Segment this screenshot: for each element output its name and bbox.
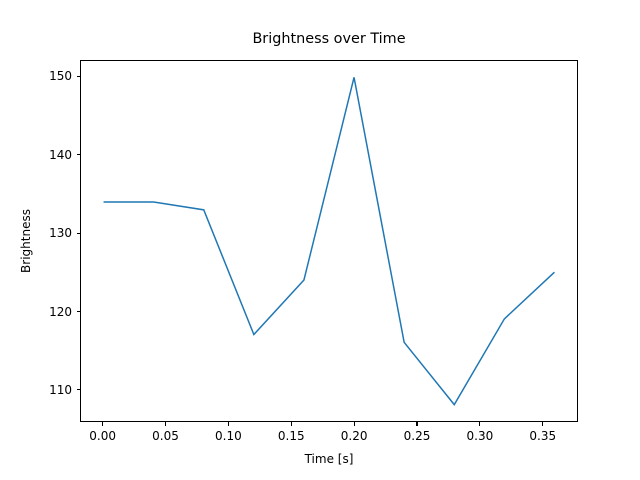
y-tick-label: 110 <box>0 383 72 397</box>
y-tick-label: 140 <box>0 148 72 162</box>
x-tick-label: 0.05 <box>152 429 179 443</box>
x-tick-label: 0.00 <box>89 429 116 443</box>
line-chart-svg <box>81 61 577 421</box>
y-tick-label: 120 <box>0 305 72 319</box>
x-tick-mark <box>416 422 417 426</box>
x-tick-mark <box>165 422 166 426</box>
y-tick-mark <box>77 389 81 390</box>
page-title: Brightness over Time <box>80 30 578 48</box>
x-tick-mark <box>479 422 480 426</box>
x-axis-label: Time [s] <box>80 452 578 466</box>
x-tick-label: 0.10 <box>215 429 242 443</box>
x-tick-mark <box>102 422 103 426</box>
x-tick-label: 0.25 <box>404 429 431 443</box>
y-tick-mark <box>77 233 81 234</box>
data-series-line <box>104 77 555 404</box>
y-axis-label: Brightness <box>19 209 33 273</box>
x-tick-label: 0.30 <box>467 429 494 443</box>
x-tick-label: 0.15 <box>278 429 305 443</box>
y-tick-label: 130 <box>0 226 72 240</box>
y-tick-label: 150 <box>0 69 72 83</box>
x-tick-label: 0.35 <box>529 429 556 443</box>
y-tick-mark <box>77 154 81 155</box>
x-tick-mark <box>354 422 355 426</box>
plot-area <box>80 60 578 422</box>
y-tick-mark <box>77 76 81 77</box>
x-tick-mark <box>291 422 292 426</box>
x-tick-mark <box>542 422 543 426</box>
x-tick-label: 0.20 <box>341 429 368 443</box>
figure-canvas: Brightness over Time 110120130140150 0.0… <box>0 0 640 480</box>
x-tick-mark <box>228 422 229 426</box>
y-tick-mark <box>77 311 81 312</box>
